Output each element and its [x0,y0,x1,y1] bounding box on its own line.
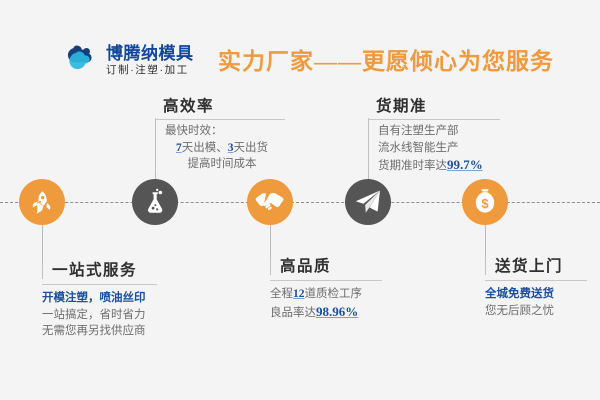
line-own-factory: 自有注塑生产部 [378,123,500,140]
rocket-icon [29,189,55,215]
flask-icon [142,188,168,216]
block-title-high-quality: 高品质 [270,258,392,275]
line-service-supplier: 无需您再另找供应商 [42,323,167,340]
qc-steps-pre: 全程 [270,288,293,300]
block-title-door-delivery: 送货上门 [485,258,597,275]
line-qc-steps: 全程12道质检工序 [270,286,392,303]
block-on-time-delivery: 货期准 自有注塑生产部 流水线智能生产 货期准时率达99.7% [368,98,500,175]
handshake-icon [255,191,285,213]
svg-text:$: $ [481,196,489,211]
block-door-delivery: 送货上门 全城免费送货 您无后顾之忧 [485,258,597,319]
timeline-node-flask[interactable] [132,179,178,225]
block-body-door-delivery: 全城免费送货 您无后顾之忧 [485,281,597,319]
brand-subtitle: 订制·注塑·加工 [106,65,194,76]
block-title-on-time-delivery: 货期准 [368,98,500,115]
line-lead-time: 7天出模、3天出货 [165,140,285,157]
line-smart-line: 流水线智能生产 [378,140,500,157]
timeline-axis [0,202,600,203]
block-high-quality: 高品质 全程12道质检工序 良品率达98.96% [270,258,392,322]
block-high-efficiency: 高效率 最快时效： 7天出模、3天出货 提高时间成本 [155,98,285,173]
page-title: 实力厂家——更愿倾心为您服务 [218,42,554,76]
line-fastest-label: 最快时效： [165,123,285,140]
block-body-one-stop-service: 开模注塑，喷油丝印 一站搞定，省时省力 无需您再另找供应商 [42,285,167,340]
cloud-logo-icon [66,42,100,78]
line-no-worry: 您无后顾之忧 [485,303,597,320]
line-ontime-rate: 货期准时率达99.7% [378,156,500,175]
brand-name: 博腾纳模具 [106,45,194,62]
line-time-cost: 提高时间成本 [165,156,285,173]
ontime-rate-value: 99.7% [447,157,483,172]
days-ship-label: 天出货 [234,142,269,154]
timeline-node-rocket[interactable] [19,179,65,225]
block-body-on-time-delivery: 自有注塑生产部 流水线智能生产 货期准时率达99.7% [368,120,500,175]
line-service-scope: 开模注塑，喷油丝印 [42,290,167,307]
qc-steps-post: 道质检工序 [305,288,363,300]
money-bag-icon: $ [472,188,498,216]
line-service-benefit: 一站搞定，省时省力 [42,307,167,324]
line-free-delivery: 全城免费送货 [485,286,597,303]
block-title-one-stop-service: 一站式服务 [42,262,167,279]
block-title-high-efficiency: 高效率 [155,98,285,115]
timeline-node-handshake[interactable] [247,179,293,225]
qc-steps-value: 12 [293,288,305,300]
paper-plane-icon [354,189,382,215]
yield-rate-value: 98.96% [316,304,358,319]
block-one-stop-service: 一站式服务 开模注塑，喷油丝印 一站搞定，省时省力 无需您再另找供应商 [42,262,167,340]
block-body-high-efficiency: 最快时效： 7天出模、3天出货 提高时间成本 [155,120,285,173]
brand-text: 博腾纳模具 订制·注塑·加工 [106,45,194,76]
days-mold-label: 天出模、 [182,142,228,154]
block-body-high-quality: 全程12道质检工序 良品率达98.96% [270,281,392,322]
yield-rate-label: 良品率达 [270,307,316,319]
infographic-canvas: 博腾纳模具 订制·注塑·加工 实力厂家——更愿倾心为您服务 [0,0,600,400]
brand-logo: 博腾纳模具 订制·注塑·加工 [66,42,194,78]
line-yield-rate: 良品率达98.96% [270,303,392,322]
ontime-rate-label: 货期准时率达 [378,160,447,172]
timeline-node-paper-plane[interactable] [345,179,391,225]
timeline-node-money-bag[interactable]: $ [462,179,508,225]
header: 博腾纳模具 订制·注塑·加工 实力厂家——更愿倾心为您服务 [0,42,600,88]
